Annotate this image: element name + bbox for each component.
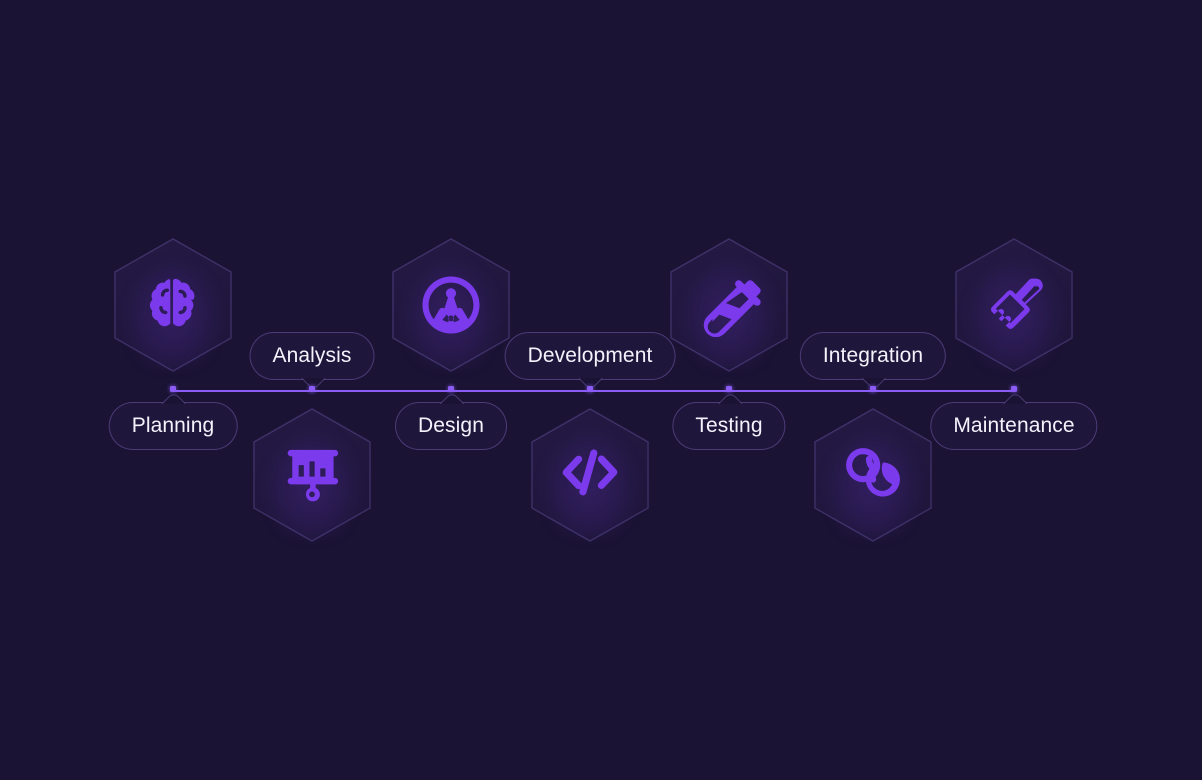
pill-notch bbox=[160, 391, 186, 404]
test-tube-icon bbox=[670, 238, 788, 372]
timeline-dot-maintenance bbox=[1011, 386, 1017, 392]
timeline-dot-planning bbox=[170, 386, 176, 392]
code-brackets-icon bbox=[531, 408, 649, 542]
timeline-label-maintenance[interactable]: Maintenance bbox=[930, 402, 1097, 450]
timeline-label-text: Development bbox=[528, 344, 653, 368]
timeline-dot-analysis bbox=[309, 386, 315, 392]
compass-circle-icon bbox=[392, 238, 510, 372]
timeline-label-text: Integration bbox=[823, 344, 923, 368]
hexagon-badge-testing[interactable] bbox=[670, 238, 788, 372]
pill-notch bbox=[1001, 391, 1027, 404]
paintbrush-icon bbox=[955, 238, 1073, 372]
timeline-label-text: Design bbox=[418, 414, 484, 438]
timeline-canvas: PlanningAnalysisDesignDevelopmentTesting… bbox=[0, 0, 1202, 780]
timeline-label-text: Planning bbox=[132, 414, 215, 438]
timeline-label-integration[interactable]: Integration bbox=[800, 332, 946, 380]
presentation-chart-icon bbox=[253, 408, 371, 542]
timeline-dot-integration bbox=[870, 386, 876, 392]
timeline-label-analysis[interactable]: Analysis bbox=[250, 332, 375, 380]
hexagon-badge-design[interactable] bbox=[392, 238, 510, 372]
timeline-label-text: Analysis bbox=[273, 344, 352, 368]
timeline-label-testing[interactable]: Testing bbox=[672, 402, 785, 450]
brain-icon bbox=[114, 238, 232, 372]
hexagon-badge-integration[interactable] bbox=[814, 408, 932, 542]
timeline-axis bbox=[173, 390, 1014, 392]
timeline-label-development[interactable]: Development bbox=[505, 332, 676, 380]
timeline-dot-development bbox=[587, 386, 593, 392]
hexagon-badge-planning[interactable] bbox=[114, 238, 232, 372]
timeline-dot-testing bbox=[726, 386, 732, 392]
hexagon-badge-maintenance[interactable] bbox=[955, 238, 1073, 372]
timeline-dot-design bbox=[448, 386, 454, 392]
hexagon-badge-development[interactable] bbox=[531, 408, 649, 542]
timeline-label-planning[interactable]: Planning bbox=[109, 402, 238, 450]
pill-notch bbox=[438, 391, 464, 404]
pill-notch bbox=[716, 391, 742, 404]
timeline-label-design[interactable]: Design bbox=[395, 402, 507, 450]
overlapping-circles-icon bbox=[814, 408, 932, 542]
hexagon-badge-analysis[interactable] bbox=[253, 408, 371, 542]
timeline-label-text: Maintenance bbox=[953, 414, 1074, 438]
timeline-label-text: Testing bbox=[695, 414, 762, 438]
